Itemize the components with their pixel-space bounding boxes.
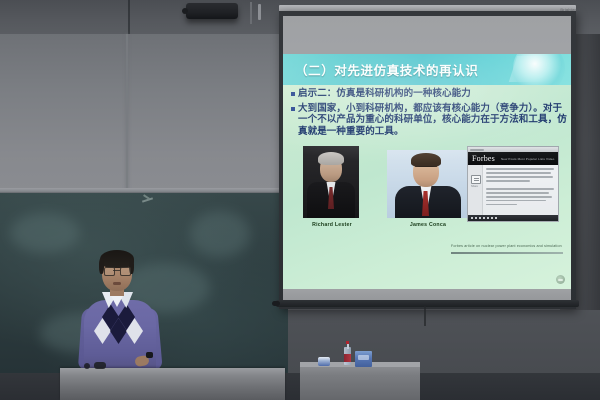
slide-bullet-1: 启示二：仿真是科研机构的一种核心能力	[291, 88, 567, 100]
slide-bullet-list: 启示二：仿真是科研机构的一种核心能力 大到国家，小到科研机构，都应该有核心能力（…	[291, 88, 567, 141]
wall-seam	[126, 34, 128, 193]
chalk-mark	[142, 195, 154, 205]
wristwatch-icon	[146, 352, 153, 358]
forbes-header: Forbes New Posts Most Popular Lists Vide…	[468, 152, 558, 165]
screen-pull-cord[interactable]	[424, 306, 426, 326]
slide-footer-rule	[451, 252, 563, 254]
slide-article-caption: Forbes article on nuclear power plant ec…	[451, 244, 565, 248]
projection-screen-surface: （二）对先进仿真技术的再认识 启示二：仿真是科研机构的一种核心能力 大到国家，小…	[283, 16, 571, 301]
forbes-article-screenshot: Forbes New Posts Most Popular Lists Vide…	[467, 146, 559, 222]
front-desk	[60, 368, 285, 400]
eyeglasses-icon	[104, 267, 130, 274]
bullet-square-icon	[291, 92, 295, 96]
presenter-mouth	[113, 282, 121, 285]
slide-photo-row: Richard Lester James Conca Forbes New Po	[299, 146, 557, 250]
forbes-logo: Forbes	[472, 154, 495, 163]
slide-bullet-1-text: 启示二：仿真是科研机构的一种核心能力	[298, 88, 471, 100]
bullet-square-icon	[291, 107, 295, 111]
presenter	[62, 244, 180, 374]
slide-bullet-2: 大到国家，小到科研机构，都应该有核心能力（竞争力）。对于一个不以产品为重心的科研…	[291, 103, 567, 138]
ceiling-rod	[250, 2, 252, 24]
screen-bottom-bar	[276, 300, 579, 307]
share-icon	[471, 175, 481, 184]
forbes-sidebar-label: Share	[471, 185, 478, 188]
photo-caption-james-conca: James Conca	[395, 222, 461, 228]
desk-object-small	[84, 363, 90, 369]
ceiling-light-fixture-icon	[186, 3, 238, 19]
side-table	[300, 364, 420, 400]
photo-richard-lester	[303, 146, 359, 218]
forbes-article-text	[486, 168, 554, 208]
slide-title: （二）对先进仿真技术的再认识	[295, 60, 478, 79]
tissue-box	[355, 351, 372, 367]
slide-bullet-2-text: 大到国家，小到科研机构，都应该有核心能力（竞争力）。对于一个不以产品为重心的科研…	[298, 103, 567, 138]
ceiling-seam	[129, 0, 130, 34]
slide-corner-logo-icon	[556, 275, 565, 284]
forbes-body: Share	[468, 165, 558, 215]
water-bottle	[344, 341, 351, 365]
small-cup	[318, 357, 330, 366]
ceiling-bracket	[258, 4, 261, 20]
forbes-nav: New Posts Most Popular Lists Video	[501, 157, 554, 161]
banner-orb-decoration	[513, 54, 565, 85]
powerpoint-slide: （二）对先进仿真技术的再认识 启示二：仿真是科研机构的一种核心能力 大到国家，小…	[283, 54, 571, 289]
forbes-sidebar: Share	[468, 165, 483, 215]
classroom-lecture-screenshot: Brightwell （二）对先进仿真技术的再认识 启示二：仿真是科研机构的一种…	[0, 0, 600, 400]
photo-caption-richard-lester: Richard Lester	[299, 222, 365, 228]
photo-james-conca	[387, 150, 471, 218]
forbes-footer	[468, 215, 558, 221]
desk-object	[94, 362, 106, 369]
